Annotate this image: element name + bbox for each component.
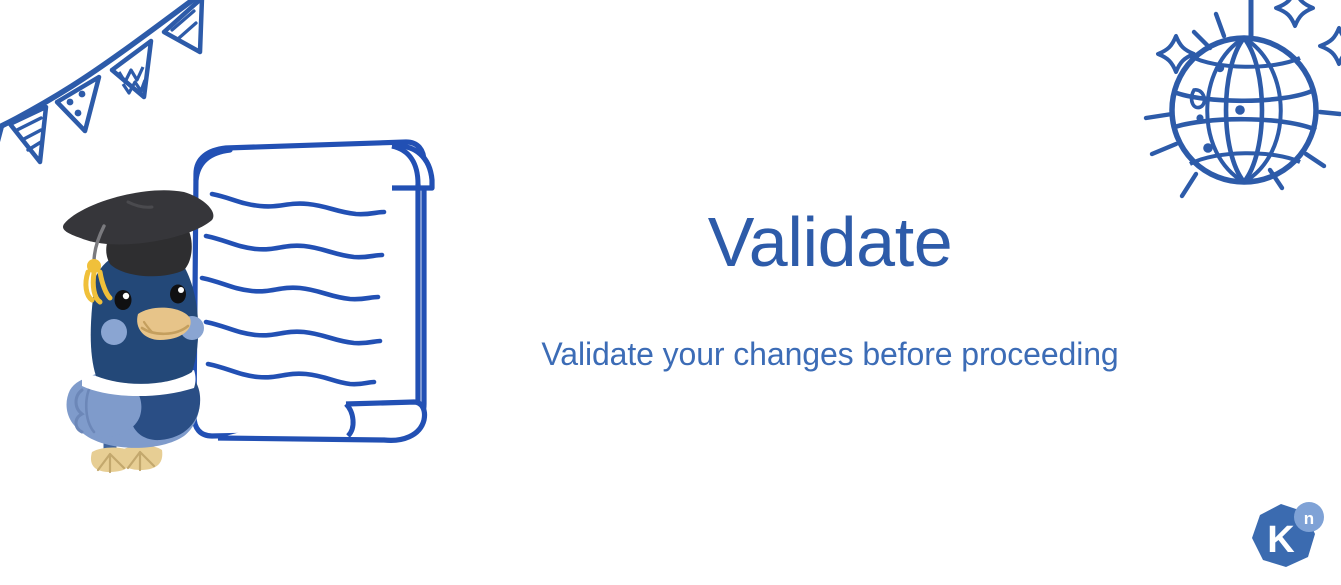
bird-body <box>91 248 199 384</box>
bird-belly <box>69 366 199 448</box>
party-bunting-garland <box>0 0 236 190</box>
bird-eye-left <box>115 290 132 310</box>
disco-ball-icon <box>1124 0 1341 227</box>
bird-wing <box>67 376 142 437</box>
graduation-cap <box>63 190 213 302</box>
bird-back <box>130 360 201 440</box>
text-block: Validate Validate your changes before pr… <box>405 205 1255 374</box>
bird-beak <box>137 308 191 340</box>
bird-eye-right <box>170 285 186 304</box>
bird-feet <box>91 434 162 472</box>
bunting-icon <box>0 0 236 190</box>
kestra-logo-icon: K n <box>1248 500 1326 572</box>
page-subtitle: Validate your changes before proceeding <box>405 335 1255 373</box>
logo-letter-n: n <box>1304 509 1314 528</box>
slide-canvas: Validate Validate your changes before pr… <box>0 0 1341 585</box>
bird-mascot-icon <box>52 182 242 482</box>
disco-ball <box>1124 0 1341 227</box>
kestra-logo[interactable]: K n <box>1248 500 1326 572</box>
graduate-bird-mascot <box>52 182 242 482</box>
bird-cheek-right <box>180 316 204 340</box>
bird-cheek-left <box>101 319 127 345</box>
page-title: Validate <box>405 205 1255 279</box>
bird-chest-band <box>82 370 196 396</box>
logo-letter-k: K <box>1267 519 1295 561</box>
